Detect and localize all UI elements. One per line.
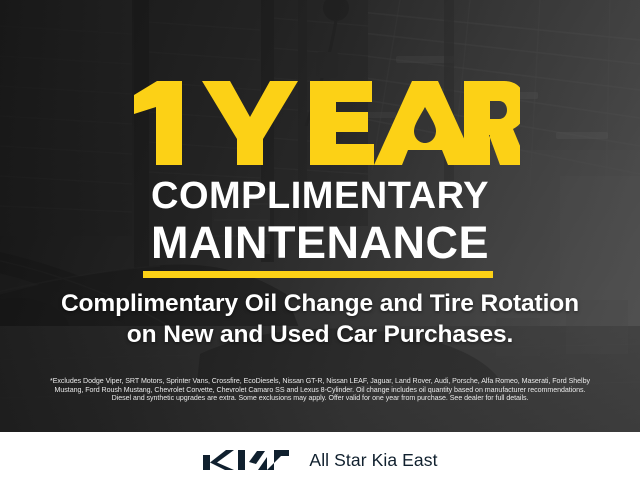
offer-line-2: on New and Used Car Purchases. xyxy=(0,319,640,350)
disclaimer-line-2: Mustang, Ford Roush Mustang, Chevrolet C… xyxy=(14,386,626,395)
promotion-banner: 1 YEAR COMPLIMENTARY COMPL xyxy=(0,0,640,488)
headline-primary: 1 YEAR xyxy=(0,69,640,169)
offer-line-1: Complimentary Oil Change and Tire Rotati… xyxy=(61,290,579,317)
footer-bar: kia-logo All Star Kia East xyxy=(0,432,640,488)
disclaimer-line-1: *Excludes Dodge Viper, SRT Motors, Sprin… xyxy=(14,377,626,386)
svg-text:MAINTENANCE: MAINTENANCE xyxy=(151,218,489,268)
accent-divider xyxy=(143,271,493,278)
dealer-name: All Star Kia East xyxy=(309,450,437,471)
kia-logo-icon: kia-logo xyxy=(202,447,290,473)
svg-text:COMPLIMENTARY: COMPLIMENTARY xyxy=(151,175,489,217)
offer-description: Complimentary Oil Change and Tire Rotati… xyxy=(0,288,640,350)
headline-line-maintenance: MAINTENANCE MAINTENANCE xyxy=(0,218,640,268)
headline-line-complimentary: COMPLIMENTARY COMPLIMENTARY xyxy=(0,175,640,217)
banner-content: 1 YEAR COMPLIMENTARY COMPL xyxy=(0,0,640,488)
disclaimer-line-3: Diesel and synthetic upgrades are extra.… xyxy=(14,394,626,403)
disclaimer-text: *Excludes Dodge Viper, SRT Motors, Sprin… xyxy=(14,377,626,403)
